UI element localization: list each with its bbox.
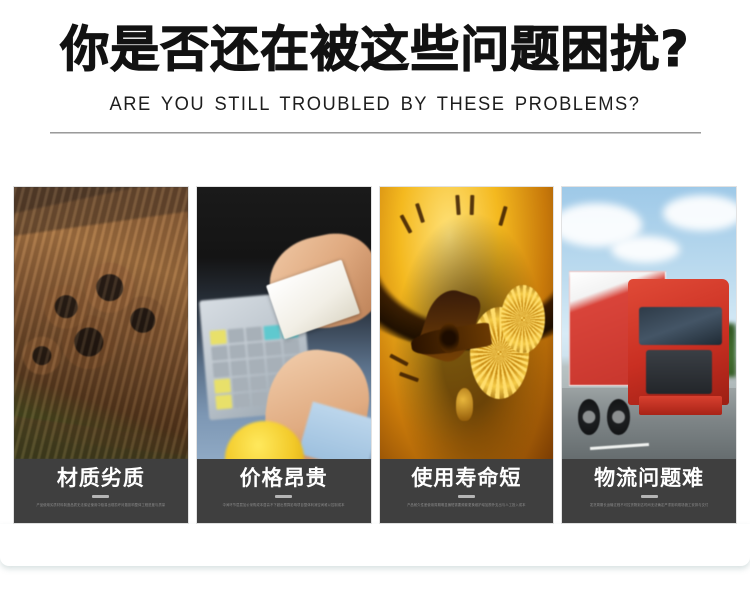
caption-dash-divider bbox=[92, 495, 109, 498]
center-pin-shape bbox=[439, 323, 460, 353]
card-caption: 价格昂贵 中间环节层层加价采购成本居高不下超出预算影响项目整体利润空间难以控制成… bbox=[197, 459, 371, 523]
page-subtitle: ARE YOU STILL TROUBLED BY THESE PROBLEMS… bbox=[23, 92, 728, 116]
rusty-pipes-illustration bbox=[14, 187, 188, 459]
problem-card-logistics[interactable]: 物流问题难 发货周期长运输过程不可控货物到达时间无法确定严重影响现场施工安排与交… bbox=[561, 186, 737, 524]
card-subtext: 发货周期长运输过程不可控货物到达时间无法确定严重影响现场施工安排与交付 bbox=[576, 503, 722, 508]
truck-wheel-shape bbox=[578, 399, 601, 434]
screw-shape bbox=[456, 388, 473, 421]
problem-card-material-quality[interactable]: 材质劣质 产品使用劣质材料制造品质无法保证使用中极易出现损坏问题影响整体工程进度… bbox=[13, 186, 189, 524]
page-title: 你是否还在被这些问题困扰? bbox=[0, 22, 750, 78]
payment-scene-illustration bbox=[197, 187, 371, 459]
bottom-sheet-edge bbox=[0, 524, 750, 566]
rusty-steel-pipes-photo bbox=[14, 187, 188, 459]
card-title: 使用寿命短 bbox=[411, 465, 521, 491]
card-subtext: 产品耐久性差使用周期明显偏短需要频繁更换维护增加额外支出与人工投入成本 bbox=[393, 503, 539, 508]
truck-scene-illustration bbox=[562, 187, 736, 459]
marketing-banner-page: 你是否还在被这些问题困扰? ARE YOU STILL TROUBLED BY … bbox=[0, 0, 750, 609]
caption-dash-divider bbox=[458, 495, 475, 498]
small-gear-shape bbox=[501, 285, 544, 353]
header-section: 你是否还在被这些问题困扰? ARE YOU STILL TROUBLED BY … bbox=[0, 0, 750, 134]
card-title: 材质劣质 bbox=[57, 465, 145, 491]
header-divider bbox=[50, 132, 701, 134]
clock-mechanism-illustration bbox=[380, 187, 554, 459]
card-title: 价格昂贵 bbox=[240, 465, 328, 491]
card-caption: 材质劣质 产品使用劣质材料制造品质无法保证使用中极易出现损坏问题影响整体工程进度… bbox=[14, 459, 188, 523]
card-subtext: 产品使用劣质材料制造品质无法保证使用中极易出现损坏问题影响整体工程进度与质量 bbox=[28, 503, 174, 508]
problem-card-short-lifespan[interactable]: 使用寿命短 产品耐久性差使用周期明显偏短需要频繁更换维护增加额外支出与人工投入成… bbox=[379, 186, 555, 524]
truck-grille-shape bbox=[646, 350, 712, 394]
card-caption: 使用寿命短 产品耐久性差使用周期明显偏短需要频繁更换维护增加额外支出与人工投入成… bbox=[380, 459, 554, 523]
golden-clock-gears-photo bbox=[380, 187, 554, 459]
truck-wheel-shape bbox=[607, 399, 630, 434]
red-delivery-truck-photo bbox=[562, 187, 736, 459]
truck-bumper-shape bbox=[639, 396, 722, 415]
card-subtext: 中间环节层层加价采购成本居高不下超出预算影响项目整体利润空间难以控制成本 bbox=[211, 503, 357, 508]
caption-dash-divider bbox=[641, 495, 658, 498]
card-title: 物流问题难 bbox=[594, 465, 704, 491]
problem-cards-row: 材质劣质 产品使用劣质材料制造品质无法保证使用中极易出现损坏问题影响整体工程进度… bbox=[13, 186, 737, 524]
cloud-shape bbox=[611, 236, 681, 263]
problem-card-high-price[interactable]: 价格昂贵 中间环节层层加价采购成本居高不下超出预算影响项目整体利润空间难以控制成… bbox=[196, 186, 372, 524]
hand-holding-card-calculator-photo bbox=[197, 187, 371, 459]
caption-dash-divider bbox=[275, 495, 292, 498]
cloud-shape bbox=[663, 195, 736, 230]
card-caption: 物流问题难 发货周期长运输过程不可控货物到达时间无法确定严重影响现场施工安排与交… bbox=[562, 459, 736, 523]
truck-windshield-shape bbox=[639, 307, 722, 345]
